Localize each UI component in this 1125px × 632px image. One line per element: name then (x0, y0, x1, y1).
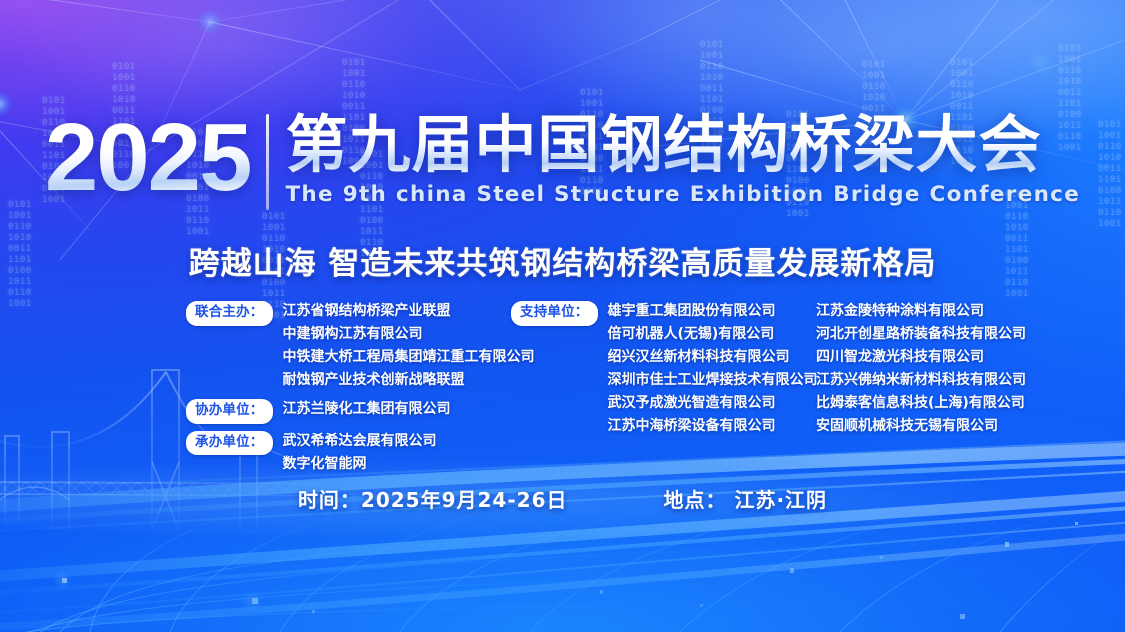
list-item: 耐蚀钢产业技术创新战略联盟 (283, 369, 535, 392)
credit-group-supporters: 支持单位： 雄宇重工集团股份有限公司 倍可机器人(无锡)有限公司 绍兴汉丝新材料… (511, 300, 818, 438)
list-item: 中铁建大桥工程局集团靖江重工有限公司 (283, 346, 535, 369)
co-organizer-list: 江苏兰陵化工集团有限公司 (283, 398, 451, 421)
credits-section: 联合主办： 江苏省钢结构桥梁产业联盟 中建钢构江苏有限公司 中铁建大桥工程局集团… (0, 300, 1125, 460)
label-supporters: 支持单位： (511, 301, 598, 326)
supporters-list-1: 雄宇重工集团股份有限公司 倍可机器人(无锡)有限公司 绍兴汉丝新材料科技有限公司… (608, 300, 818, 438)
undertaker-list: 武汉希希达会展有限公司 数字化智能网 (283, 430, 437, 476)
list-item: 倍可机器人(无锡)有限公司 (608, 323, 818, 346)
label-undertaker: 承办单位： (186, 431, 273, 456)
list-item: 四川智龙激光科技有限公司 (816, 346, 1026, 369)
list-item: 雄宇重工集团股份有限公司 (608, 300, 818, 323)
event-meta: 时间：2025年9月24-26日 地点： 江苏·江阴 (0, 484, 1125, 513)
title-divider (266, 114, 269, 210)
list-item: 武汉希希达会展有限公司 (283, 430, 437, 453)
supporters-list-2: 江苏金陵特种涂料有限公司 河北开创星路桥装备科技有限公司 四川智龙激光科技有限公… (816, 300, 1026, 438)
list-item: 安固顺机械科技无锡有限公司 (816, 415, 1026, 438)
list-item: 河北开创星路桥装备科技有限公司 (816, 323, 1026, 346)
credits-column-supporters-2: 江苏金陵特种涂料有限公司 河北开创星路桥装备科技有限公司 四川智龙激光科技有限公… (806, 300, 1026, 438)
poster-title-block: 2025 第九届中国钢结构桥梁大会 The 9th china Steel St… (0, 112, 1125, 210)
label-co-organizer: 协办单位： (186, 399, 273, 424)
list-item: 中建钢构江苏有限公司 (283, 323, 535, 346)
list-item: 深圳市佳士工业焊接技术有限公司 (608, 369, 818, 392)
event-date: 时间：2025年9月24-26日 (298, 484, 568, 513)
conference-poster: 0101 1001 0110 1010 0011 1101 0100 1011 … (0, 0, 1125, 632)
list-item: 江苏中海桥梁设备有限公司 (608, 415, 818, 438)
conference-title-cn: 第九届中国钢结构桥梁大会 (285, 112, 1080, 178)
credit-group-co-organizer: 协办单位： 江苏兰陵化工集团有限公司 (186, 398, 535, 424)
credit-group-joint-host: 联合主办： 江苏省钢结构桥梁产业联盟 中建钢构江苏有限公司 中铁建大桥工程局集团… (186, 300, 535, 392)
credit-group-undertaker: 承办单位： 武汉希希达会展有限公司 数字化智能网 (186, 430, 535, 476)
list-item: 绍兴汉丝新材料科技有限公司 (608, 346, 818, 369)
event-location: 地点： 江苏·江阴 (663, 484, 827, 513)
conference-title-en: The 9th china Steel Structure Exhibition… (285, 182, 1080, 207)
list-item: 武汉予成激光智造有限公司 (608, 392, 818, 415)
conference-slogan: 跨越山海 智造未来共筑钢结构桥梁高质量发展新格局 (0, 238, 1125, 283)
list-item: 江苏省钢结构桥梁产业联盟 (283, 300, 535, 323)
list-item: 数字化智能网 (283, 453, 437, 476)
label-joint-host: 联合主办： (186, 301, 273, 326)
credits-column-supporters-1: 支持单位： 雄宇重工集团股份有限公司 倍可机器人(无锡)有限公司 绍兴汉丝新材料… (511, 300, 818, 438)
list-item: 江苏兰陵化工集团有限公司 (283, 398, 451, 421)
list-item: 江苏兴佛纳米新材料科技有限公司 (816, 369, 1026, 392)
joint-host-list: 江苏省钢结构桥梁产业联盟 中建钢构江苏有限公司 中铁建大桥工程局集团靖江重工有限… (283, 300, 535, 392)
credits-column-organizers: 联合主办： 江苏省钢结构桥梁产业联盟 中建钢构江苏有限公司 中铁建大桥工程局集团… (186, 300, 535, 476)
list-item: 江苏金陵特种涂料有限公司 (816, 300, 1026, 323)
year-2025: 2025 (45, 114, 267, 202)
list-item: 比姆泰客信息科技(上海)有限公司 (816, 392, 1026, 415)
